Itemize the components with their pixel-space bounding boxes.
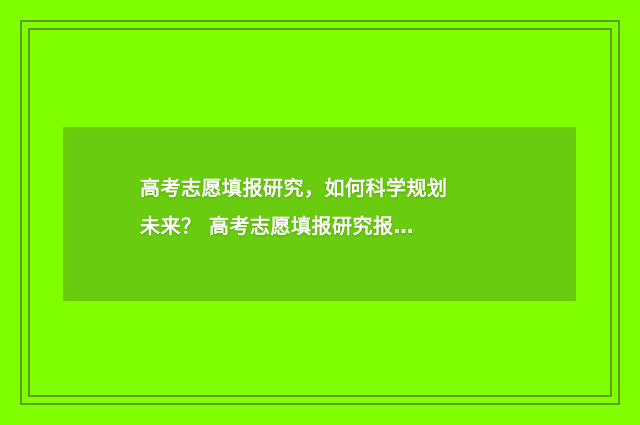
content-panel: 高考志愿填报研究，如何科学规划 未来？ 高考志愿填报研究报… <box>63 127 576 301</box>
banner-graphic: 高考志愿填报研究，如何科学规划 未来？ 高考志愿填报研究报… <box>0 0 640 425</box>
headline-text: 高考志愿填报研究，如何科学规划 未来？ 高考志愿填报研究报… <box>140 169 560 245</box>
